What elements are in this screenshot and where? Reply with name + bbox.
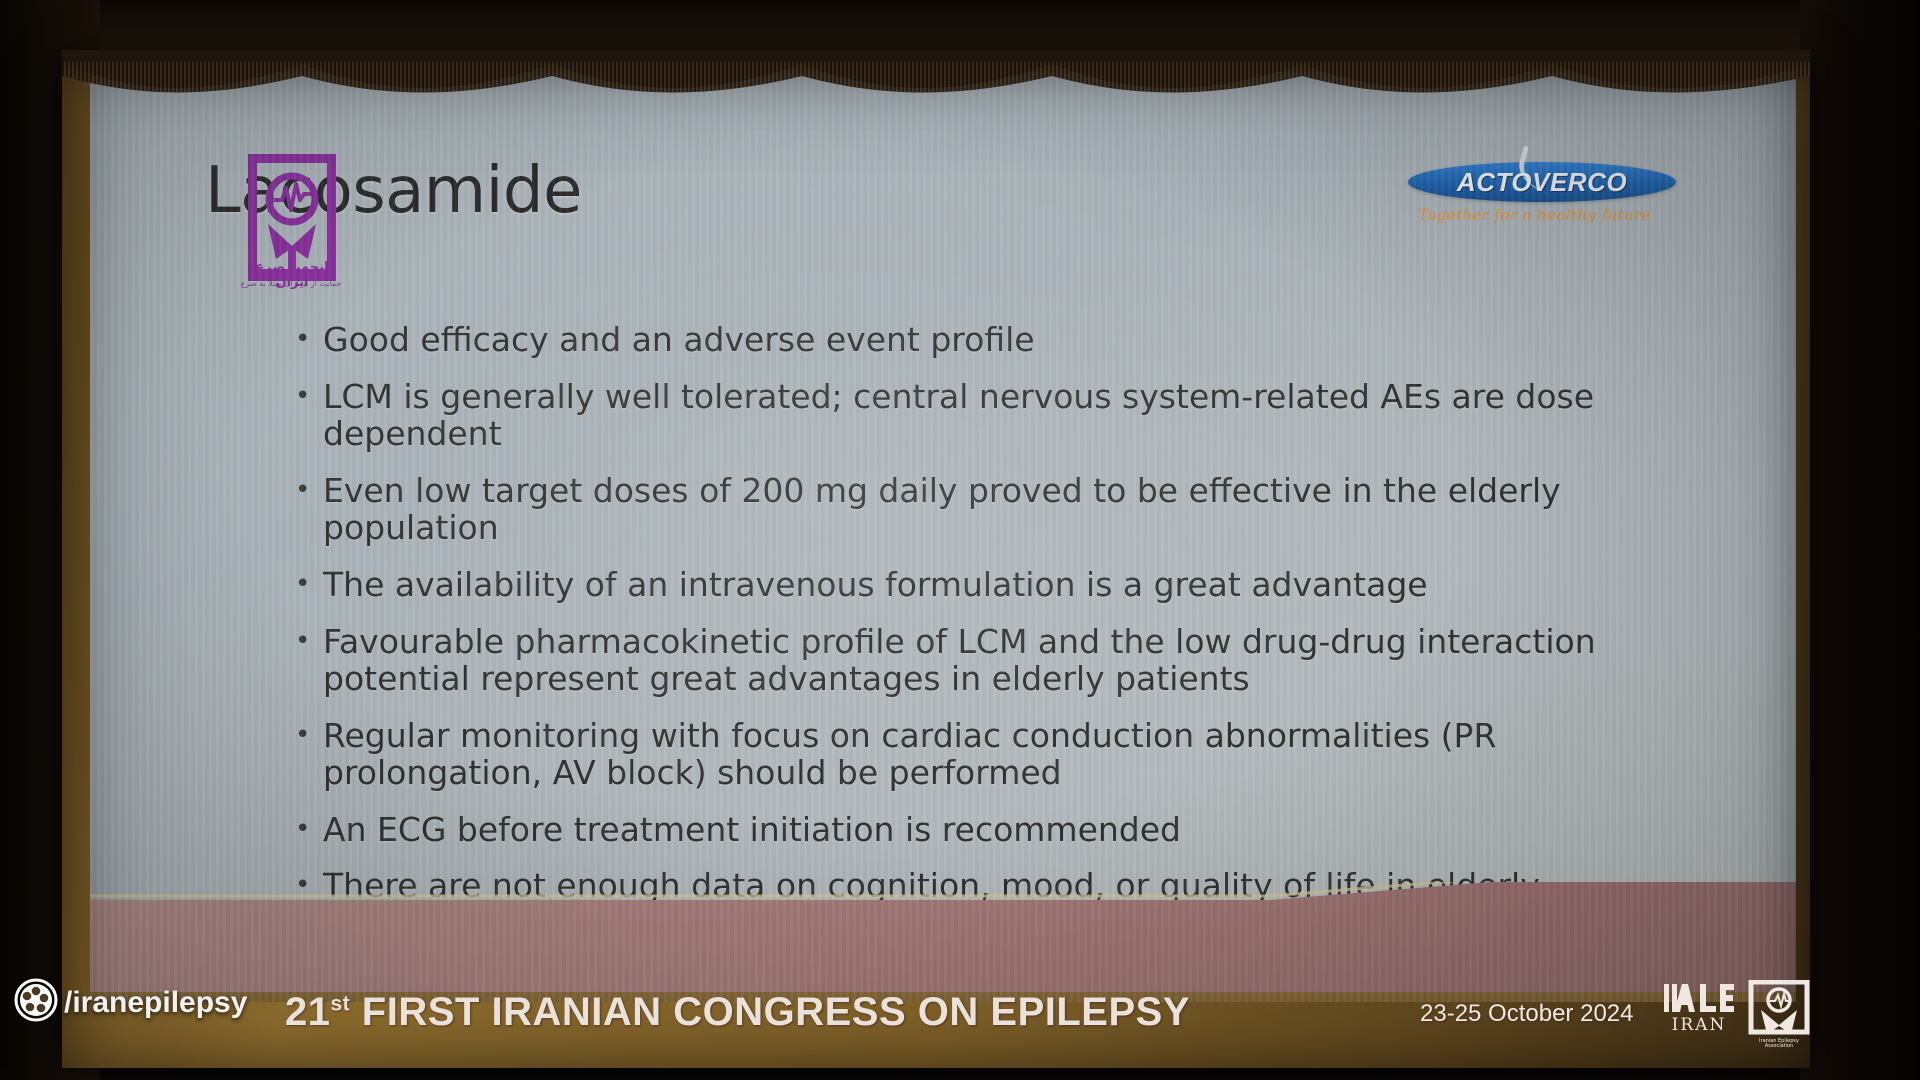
congress-dates: 23-25 October 2024 xyxy=(1420,1000,1633,1028)
iranian-epilepsy-association-banner-logo: Iranian Epilepsy Association xyxy=(1748,980,1810,1048)
congress-ordinal-suffix: st xyxy=(331,993,351,1016)
presentation-slide: Lacosamide انجمن صرع ایران حمایت از بیما… xyxy=(90,72,1796,1002)
bullet-icon: • xyxy=(295,379,323,414)
watermark: /iranepilepsy xyxy=(14,978,247,1027)
bullet-text: An ECG before treatment initiation is re… xyxy=(323,812,1625,849)
ilae-iran-logo: IRAN xyxy=(1658,978,1740,1050)
slide-bottom-band xyxy=(90,882,1796,1002)
wall-right xyxy=(1800,0,1920,1080)
bullet-text: Regular monitoring with focus on cardiac… xyxy=(323,718,1625,792)
congress-ordinal: 21 xyxy=(285,990,331,1034)
actoverco-logo: ACTOVERCO Together for a healthy future xyxy=(1408,162,1678,232)
list-item: •Regular monitoring with focus on cardia… xyxy=(295,718,1625,792)
actoverco-tagline: Together for a healthy future xyxy=(1418,206,1651,224)
list-item: •LCM is generally well tolerated; centra… xyxy=(295,379,1625,453)
list-item: •The availability of an intravenous form… xyxy=(295,567,1625,604)
bullet-icon: • xyxy=(295,812,323,847)
bullet-icon: • xyxy=(295,718,323,753)
watermark-handle: /iranepilepsy xyxy=(64,986,247,1020)
bullet-text: Good efficacy and an adverse event profi… xyxy=(323,322,1625,359)
list-item: •Even low target doses of 200 mg daily p… xyxy=(295,473,1625,547)
bullet-list: •Good efficacy and an adverse event prof… xyxy=(295,322,1625,962)
bullet-icon: • xyxy=(295,624,323,659)
svg-text:IRAN: IRAN xyxy=(1672,1015,1727,1035)
list-item: •An ECG before treatment initiation is r… xyxy=(295,812,1625,849)
association-slogan-label: حمایت از بیماران مبتلا به صرع xyxy=(228,279,354,288)
stage-valance xyxy=(62,50,1810,98)
bullet-icon: • xyxy=(295,567,323,602)
svg-text:Association: Association xyxy=(1765,1043,1793,1048)
actoverco-wordmark: ACTOVERCO xyxy=(1408,162,1676,202)
bullet-icon: • xyxy=(295,322,323,357)
bullet-icon: • xyxy=(295,473,323,508)
congress-title-text: FIRST IRANIAN CONGRESS ON EPILEPSY xyxy=(350,990,1190,1034)
film-reel-icon xyxy=(14,978,58,1027)
list-item: •Good efficacy and an adverse event prof… xyxy=(295,322,1625,359)
congress-banner-title: 21st FIRST IRANIAN CONGRESS ON EPILEPSY xyxy=(285,990,1385,1035)
bullet-text: The availability of an intravenous formu… xyxy=(323,567,1625,604)
bullet-text: LCM is generally well tolerated; central… xyxy=(323,379,1625,453)
actoverco-ellipse: ACTOVERCO xyxy=(1408,162,1676,202)
bullet-text: Even low target doses of 200 mg daily pr… xyxy=(323,473,1625,547)
auditorium-photo: Lacosamide انجمن صرع ایران حمایت از بیما… xyxy=(0,0,1920,1080)
bullet-text: Favourable pharmacokinetic profile of LC… xyxy=(323,624,1625,698)
list-item: •Favourable pharmacokinetic profile of L… xyxy=(295,624,1625,698)
